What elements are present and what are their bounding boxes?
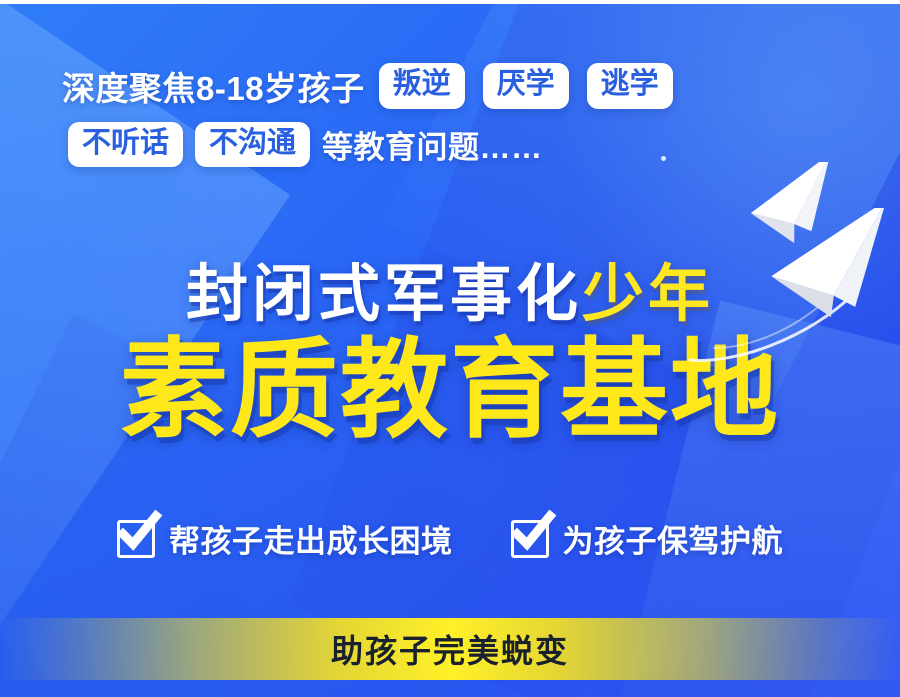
checkbox-checked-icon xyxy=(117,520,155,558)
promo-poster: 深度聚焦8-18岁孩子 叛逆 厌学 逃学 不听话 不沟通 等教育问题…… 封闭式… xyxy=(0,0,900,697)
footer-banner: 助孩子完美蜕变 xyxy=(0,618,900,680)
headline-trailing-text: 等教育问题…… xyxy=(322,122,543,167)
tag-pill-no-communication[interactable]: 不沟通 xyxy=(195,122,310,167)
benefit-label: 为孩子保驾护航 xyxy=(563,516,784,561)
headline-row-2: 不听话 不沟通 等教育问题…… xyxy=(68,122,543,167)
footer-slogan: 助孩子完美蜕变 xyxy=(331,626,569,672)
top-white-strip xyxy=(0,0,900,4)
benefit-list: 帮孩子走出成长困境 为孩子保驾护航 xyxy=(0,516,900,561)
benefit-label: 帮孩子走出成长困境 xyxy=(169,516,453,561)
main-title-line-1-white: 封闭式军事化 xyxy=(186,260,582,329)
checkbox-checked-icon xyxy=(511,520,549,558)
tag-pill-disobedient[interactable]: 不听话 xyxy=(68,122,183,167)
sparkle-dot-icon xyxy=(661,156,666,161)
headline-row-1: 深度聚焦8-18岁孩子 叛逆 厌学 逃学 xyxy=(62,62,682,110)
tag-pill-truancy[interactable]: 逃学 xyxy=(587,63,673,108)
tag-pill-rebellious[interactable]: 叛逆 xyxy=(379,63,465,108)
benefit-item: 帮孩子走出成长困境 xyxy=(117,516,453,561)
headline-lead-text: 深度聚焦8-18岁孩子 xyxy=(62,62,365,110)
benefit-item: 为孩子保驾护航 xyxy=(511,516,784,561)
paper-plane-icon xyxy=(764,208,900,323)
tag-pill-school-aversion[interactable]: 厌学 xyxy=(483,63,569,108)
